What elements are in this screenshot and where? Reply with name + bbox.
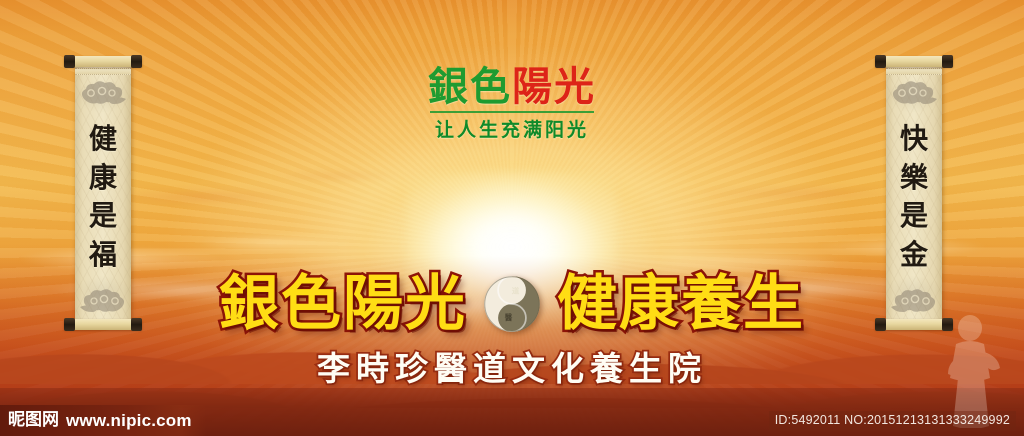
watermark-site-name: 昵图网 xyxy=(8,412,59,429)
scroll-left-char-4: 福 xyxy=(89,241,117,269)
scroll-right-char-2: 樂 xyxy=(900,164,928,192)
watermark-site[interactable]: 昵图网 www.nipic.com xyxy=(0,405,206,436)
scroll-left-char-2: 康 xyxy=(89,164,117,192)
brand-logo: 銀色陽光 让人生充满阳光 xyxy=(0,66,1024,142)
poster-canvas: 健 康 是 福 xyxy=(0,0,1024,436)
logo-tagline: 让人生充满阳光 xyxy=(0,115,1024,142)
scroll-right-char-3: 是 xyxy=(900,202,928,230)
scroll-right-char-4: 金 xyxy=(900,241,928,269)
headline-left: 銀色陽光 xyxy=(219,274,467,334)
watermark-site-url[interactable]: www.nipic.com xyxy=(66,412,192,429)
taiji-char-lower: 醫 xyxy=(505,312,513,322)
logo-divider-rule xyxy=(430,111,594,113)
logo-wordmark: 銀色陽光 xyxy=(0,66,1024,108)
yin-yang-icon: 道 醫 xyxy=(483,275,541,333)
headline-row: 銀色陽光 道 醫 健康養生 xyxy=(0,266,1024,342)
institution-subtitle: 李時珍醫道文化養生院 xyxy=(0,352,1024,385)
watermark-footer: 昵图网 www.nipic.com ID:5492011 NO:20151213… xyxy=(0,405,1024,436)
watermark-asset-id: ID:5492011 NO:20151213131333249992 xyxy=(769,411,1016,431)
taiji-char-upper: 道 xyxy=(512,286,520,296)
headline-right: 健康養生 xyxy=(557,274,805,334)
logo-text-green: 銀色 xyxy=(428,63,512,110)
scroll-left-char-3: 是 xyxy=(89,202,117,230)
logo-text-red: 陽光 xyxy=(512,63,596,110)
